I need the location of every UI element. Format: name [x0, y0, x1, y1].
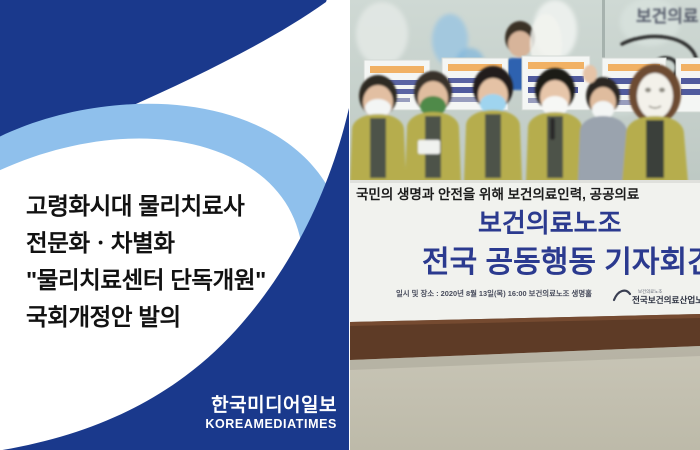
headline-line-3: "물리치료센터 단독개원" — [26, 262, 331, 299]
left-text-panel: 고령화시대 물리치료사 전문화ㆍ차별화 "물리치료센터 단독개원" 국회개정안 … — [0, 0, 349, 450]
banner-main-line-1: 보건의료노조 — [478, 208, 622, 238]
conference-banner: 국민의 생명과 안전을 위해 보건의료인력, 공공의료 보건의료노조 전국 공동… — [350, 180, 700, 328]
white-mask-icon — [637, 73, 673, 119]
publisher-logo: 한국미디어일보 KOREAMEDIATIMES — [205, 395, 337, 432]
publisher-logo-korean: 한국미디어일보 — [205, 395, 337, 416]
publisher-logo-english: KOREAMEDIATIMES — [205, 417, 337, 432]
headline-line-1: 고령화시대 물리치료사 — [26, 188, 331, 225]
photo-illustration: 보건의료 — [350, 0, 700, 450]
microphone-icon — [550, 118, 555, 140]
news-card: 고령화시대 물리치료사 전문화ㆍ차별화 "물리치료센터 단독개원" 국회개정안 … — [0, 0, 700, 450]
headline-line-2: 전문화ㆍ차별화 — [26, 225, 331, 262]
headline-line-4: 국회개정안 발의 — [26, 299, 331, 336]
banner-sub-line: 일시 및 장소 : 2020년 8월 13일(목) 16:00 보건의료노조 생… — [396, 289, 592, 298]
wall-pole — [602, 0, 605, 58]
headline: 고령화시대 물리치료사 전문화ㆍ차별화 "물리치료센터 단독개원" 국회개정안 … — [26, 188, 331, 336]
press-conference-photo: 보건의료 — [350, 0, 700, 450]
participant-with-white-mask — [622, 64, 688, 182]
banner-main-line-2: 전국 공동행동 기자회견 — [422, 246, 700, 279]
wall-text: 보건의료 — [636, 7, 699, 26]
banner-top-line: 국민의 생명과 안전을 위해 보건의료인력, 공공의료 — [356, 186, 640, 202]
svg-text:보건의료노조: 보건의료노조 — [638, 288, 662, 295]
svg-text:전국보건의료산업노동조합: 전국보건의료산업노동조합 — [632, 294, 700, 305]
